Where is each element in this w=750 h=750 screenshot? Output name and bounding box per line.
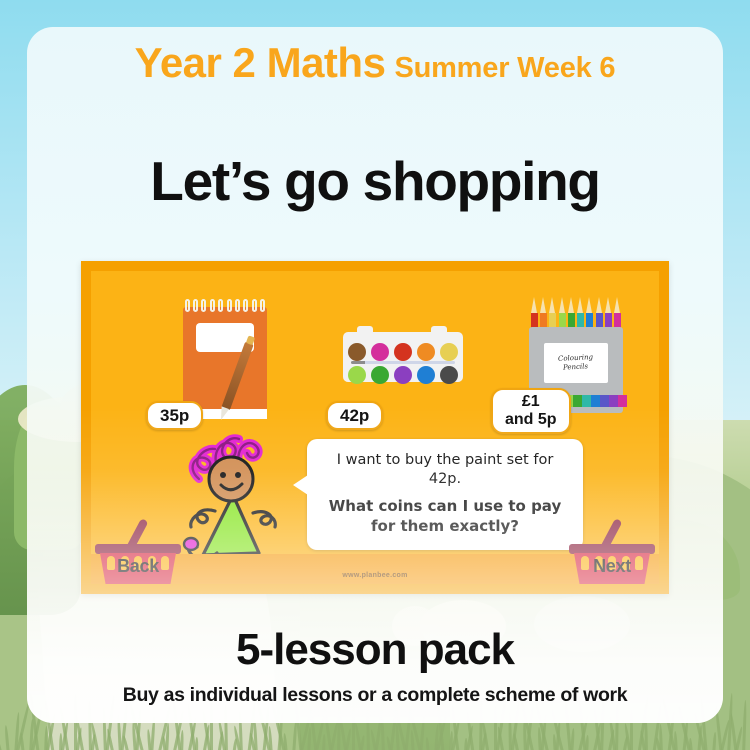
pack-title: 5-lesson pack (27, 625, 723, 675)
pencil-tip (614, 291, 621, 331)
pencil-tip (549, 291, 556, 331)
paint-brush-icon (351, 361, 455, 364)
next-button-label: Next (569, 556, 655, 577)
grass-blade (742, 700, 747, 750)
grass-blade (425, 737, 430, 750)
grass-blade (4, 725, 10, 750)
notebook-spiral-ring (243, 299, 248, 312)
notebook-spiral-ring (260, 299, 265, 312)
notebook-spiral-ring (218, 299, 223, 312)
paint-dot (440, 366, 458, 384)
subject-label: Year 2 Maths (135, 39, 386, 86)
poster-card: Year 2 MathsSummer Week 6 Let’s go shopp… (27, 27, 723, 723)
price-pencils-line1: £1 (505, 393, 557, 411)
pencil-stripe-segment (591, 395, 600, 407)
grass-blade (570, 728, 575, 750)
speech-line-2: What coins can I use to pay for them exa… (321, 497, 569, 536)
back-button-label: Back (95, 556, 181, 577)
paint-row-bottom (348, 366, 458, 384)
next-button[interactable]: Next (569, 520, 655, 584)
pencil-tip (586, 291, 593, 331)
grass-blade (322, 734, 326, 750)
notebook-spiral-ring (185, 299, 190, 312)
back-button[interactable]: Back (95, 520, 181, 584)
grass-blade (674, 731, 678, 750)
speech-line-1: I want to buy the paint set for 42p. (321, 451, 569, 488)
paint-dot (394, 366, 412, 384)
paint-dot (440, 343, 458, 361)
pencil-tip (559, 291, 566, 331)
notebook-spiral-ring (252, 299, 257, 312)
pencil-tip (531, 291, 538, 331)
paint-dot (417, 343, 435, 361)
paint-tray (343, 332, 463, 382)
item-paint-set (343, 326, 463, 382)
pencil-tips-icon (531, 291, 621, 331)
price-tag-paint-set: 42p (326, 401, 383, 430)
paint-dot (348, 366, 366, 384)
grass-blade (180, 730, 184, 750)
price-pencils-line2: and 5p (505, 411, 557, 429)
paint-dot (348, 343, 366, 361)
pencil-stripe-segment (609, 395, 618, 407)
pencil-box-label: Colouring Pencils (544, 343, 608, 383)
paint-dot (394, 343, 412, 361)
paint-dot (371, 366, 389, 384)
pack-subtitle: Buy as individual lessons or a complete … (27, 684, 723, 707)
notebook-spiral-ring (210, 299, 215, 312)
pencil-tip (605, 291, 612, 331)
paint-row-top (348, 343, 458, 361)
slide-canvas: 35p 42p Colou (91, 271, 659, 584)
pencil-stripe-segment (582, 395, 591, 407)
grass-blade (19, 732, 24, 750)
grass-blade (689, 738, 693, 750)
price-tag-pencils: £1 and 5p (491, 388, 571, 434)
basket-rim (95, 544, 181, 554)
grass-blade (0, 738, 3, 750)
pencil-tip (596, 291, 603, 331)
pencil-stripe-segment (618, 395, 627, 407)
paint-dot (371, 343, 389, 361)
notebook-spiral-ring (235, 299, 240, 312)
grass-blade (283, 733, 288, 750)
notebook-spiral-ring (201, 299, 206, 312)
grass-blade (712, 732, 717, 750)
grass-blade (195, 737, 198, 750)
pencil-tip (568, 291, 575, 331)
pencil-label-line2: Pencils (563, 362, 589, 373)
pencil-tip (577, 291, 584, 331)
pencil-tip (540, 291, 547, 331)
pencil-stripe-segment (600, 395, 609, 407)
paint-dot (417, 366, 435, 384)
page-title: Let’s go shopping (27, 149, 723, 213)
grass-blade (659, 724, 663, 750)
speech-bubble: I want to buy the paint set for 42p. Wha… (307, 439, 583, 550)
grass-blade (268, 726, 273, 750)
poster-root: Year 2 MathsSummer Week 6 Let’s go shopp… (0, 0, 750, 750)
notebook-spiral-ring (227, 299, 232, 312)
notebook-spiral-ring (193, 299, 198, 312)
basket-rim (569, 544, 655, 554)
header-kicker: Year 2 MathsSummer Week 6 (27, 39, 723, 87)
notebook-spiral-icon (183, 299, 267, 313)
slide-preview[interactable]: 35p 42p Colou (81, 261, 669, 594)
grass-blade (253, 719, 258, 750)
grass-blade (585, 735, 589, 750)
pencil-stripe-segment (573, 395, 582, 407)
term-label: Summer Week 6 (394, 52, 615, 84)
